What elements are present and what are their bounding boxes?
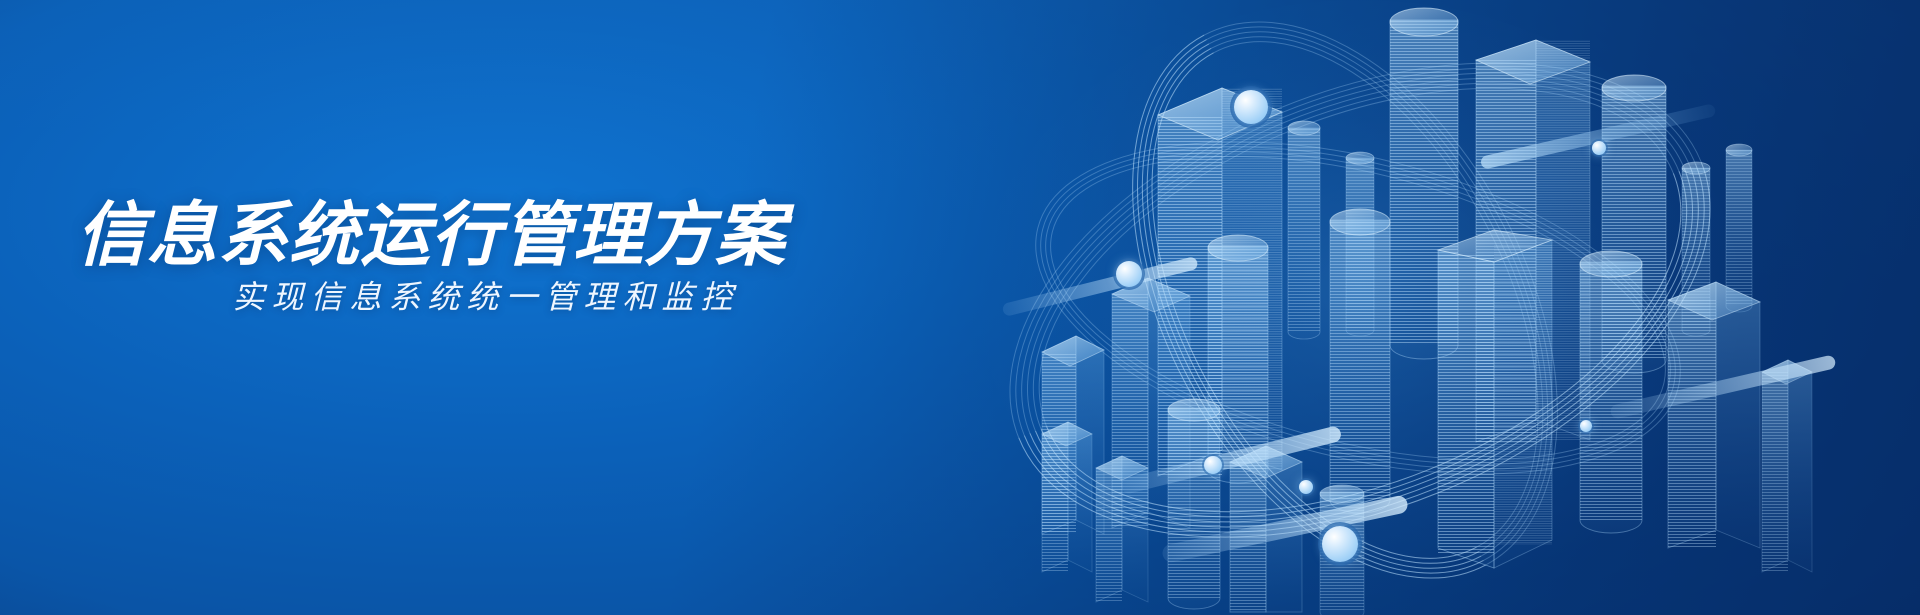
glow-node-icon xyxy=(1230,86,1272,128)
page-subtitle: 实现信息系统统一管理和监控 xyxy=(76,272,896,318)
glow-node-icon xyxy=(1202,454,1224,476)
glow-node-icon xyxy=(1578,418,1594,434)
wireframe-city-illustration xyxy=(890,0,1920,615)
banner-text-block: 信息系统运行管理方案 实现信息系统统一管理和监控 xyxy=(0,0,980,615)
page-title: 信息系统运行管理方案 xyxy=(76,196,786,274)
hero-banner: 信息系统运行管理方案 实现信息系统统一管理和监控 xyxy=(0,0,1920,615)
glow-node-icon xyxy=(1113,258,1145,290)
glow-node-icon xyxy=(1297,478,1315,496)
glow-node-icon xyxy=(1590,139,1608,157)
glow-node-icon xyxy=(1318,522,1362,566)
